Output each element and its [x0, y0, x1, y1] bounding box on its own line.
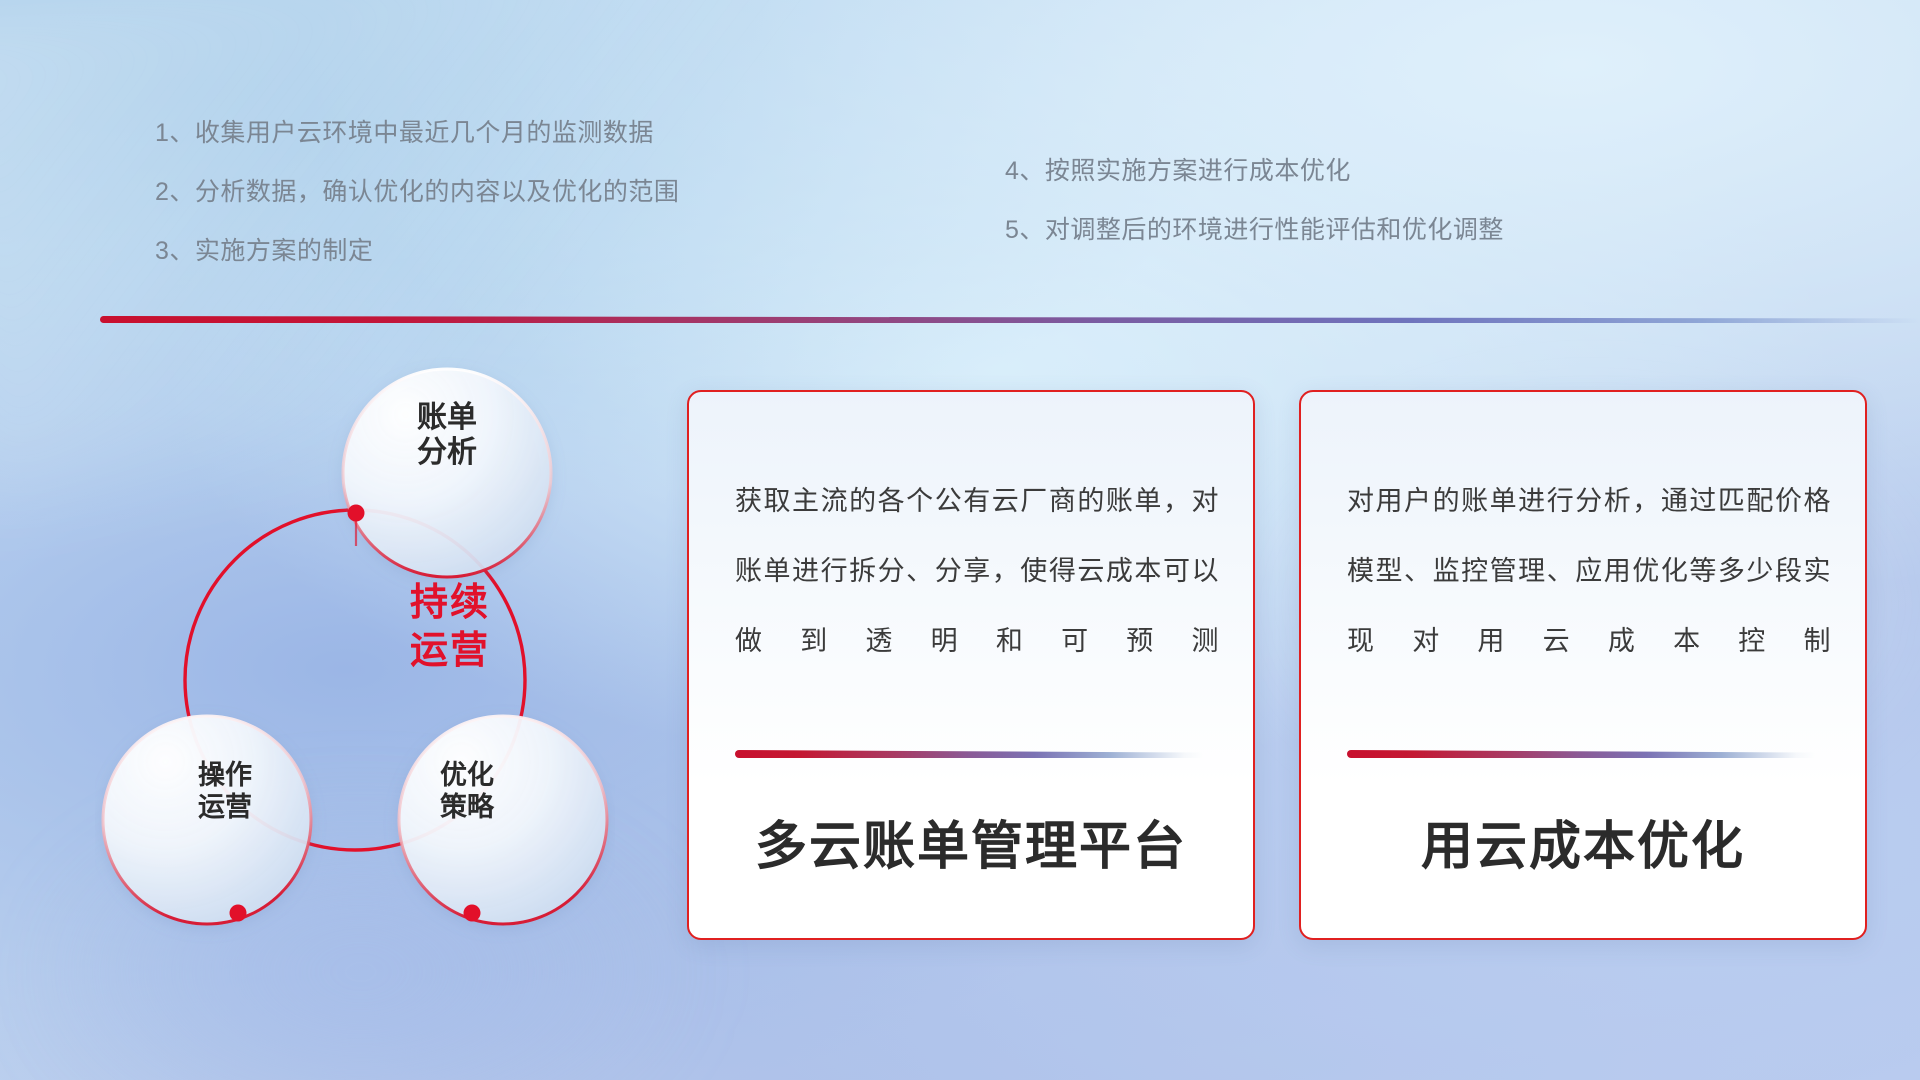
venn-diagram: 账单 分析 操作 运营 优化 策略 持续 运营	[95, 350, 615, 950]
feature-card-multicloud-billing[interactable]: 获取主流的各个公有云厂商的账单，对账单进行拆分、分享，使得云成本可以做到透明和可…	[687, 390, 1255, 940]
card-divider	[735, 750, 1203, 758]
step-item-2: 2、分析数据，确认优化的内容以及优化的范围	[155, 180, 679, 205]
venn-dot-bottom-right	[464, 905, 481, 922]
step-item-3: 3、实施方案的制定	[155, 239, 679, 264]
steps-list-right: 4、按照实施方案进行成本优化 5、对调整后的环境进行性能评估和优化调整	[1005, 159, 1504, 277]
venn-label-center: 持续 运营	[350, 580, 550, 675]
venn-label-bottom-right: 优化 策略	[382, 760, 552, 824]
card-divider	[1347, 750, 1815, 758]
step-item-5: 5、对调整后的环境进行性能评估和优化调整	[1005, 218, 1504, 243]
venn-label-top: 账单 分析	[357, 400, 537, 471]
step-item-1: 1、收集用户云环境中最近几个月的监测数据	[155, 121, 679, 146]
venn-dot-bottom-left	[230, 905, 247, 922]
card-title: 多云账单管理平台	[689, 804, 1253, 879]
steps-list-left: 1、收集用户云环境中最近几个月的监测数据 2、分析数据，确认优化的内容以及优化的…	[155, 121, 679, 298]
step-item-4: 4、按照实施方案进行成本优化	[1005, 159, 1504, 184]
card-body-text: 获取主流的各个公有云厂商的账单，对账单进行拆分、分享，使得云成本可以做到透明和可…	[735, 466, 1219, 676]
card-body-text: 对用户的账单进行分析，通过匹配价格模型、监控管理、应用优化等多少段实现对用云成本…	[1347, 466, 1831, 676]
card-title: 用云成本优化	[1301, 804, 1865, 879]
venn-label-bottom-left: 操作 运营	[140, 760, 310, 824]
feature-card-cost-optimization[interactable]: 对用户的账单进行分析，通过匹配价格模型、监控管理、应用优化等多少段实现对用云成本…	[1299, 390, 1867, 940]
